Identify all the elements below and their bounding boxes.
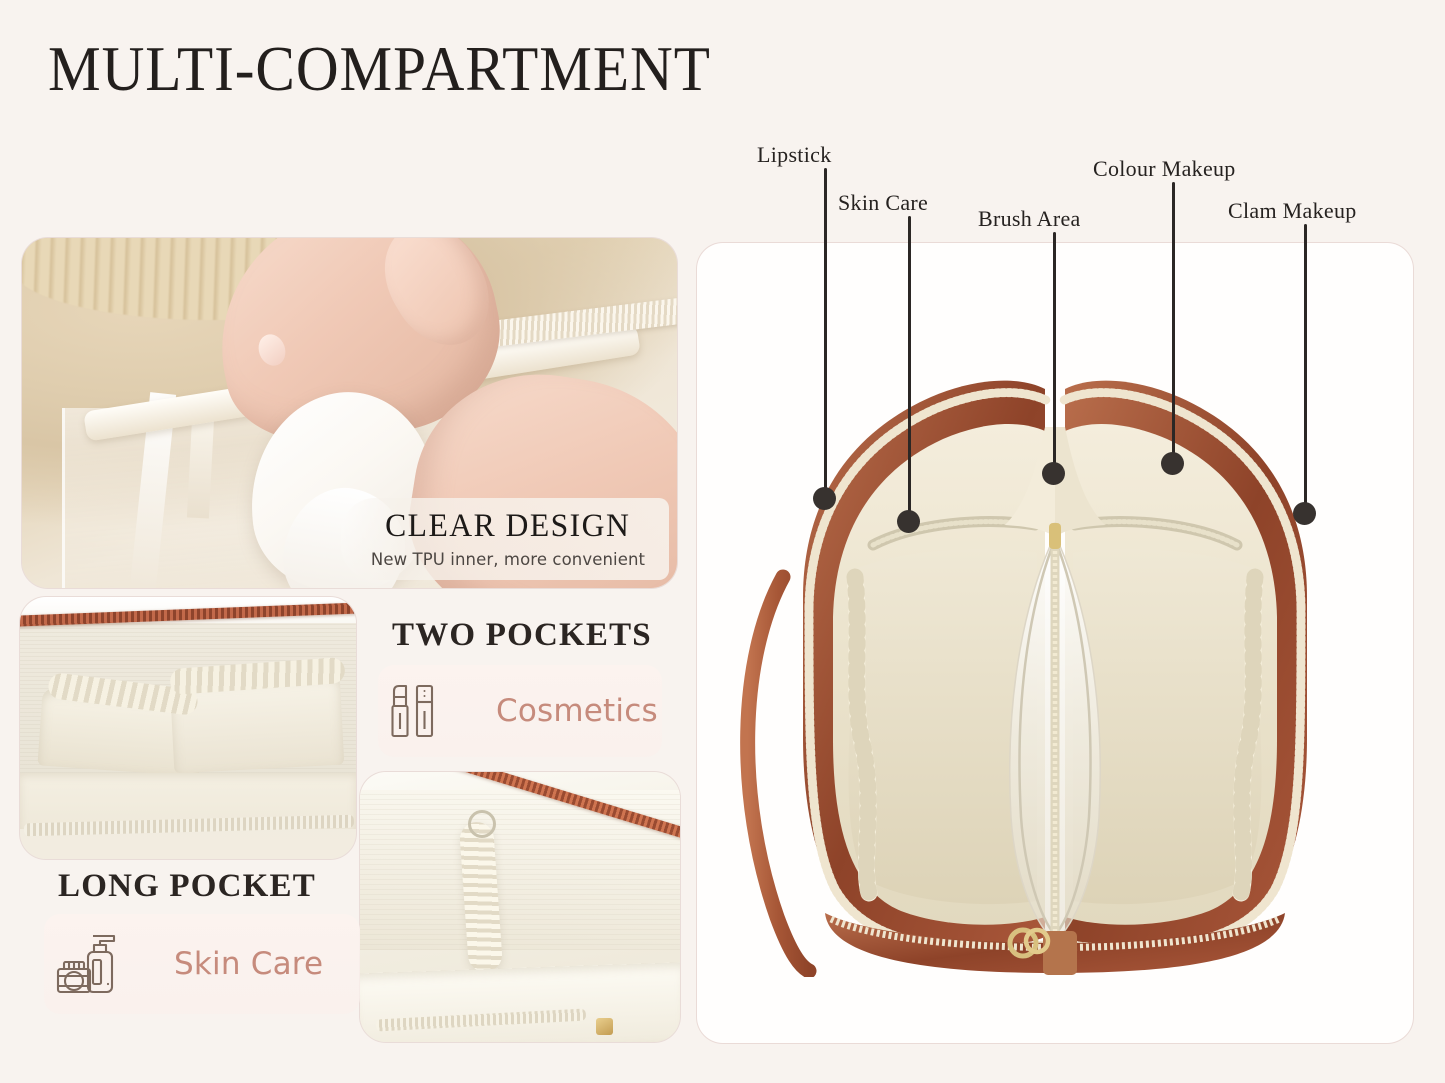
callout-label-brush-area: Brush Area [978, 206, 1081, 232]
badge-subtitle: New TPU inner, more convenient [371, 550, 645, 569]
callout-dot [1161, 452, 1184, 475]
two-pockets-heading: TWO POCKETS [392, 617, 652, 654]
callout-leader-line [908, 216, 911, 513]
clear-design-photo: CLEAR DESIGN New TPU inner, more conveni… [22, 238, 677, 588]
long-pocket-panel [360, 962, 680, 1042]
badge-title: CLEAR DESIGN [385, 510, 630, 543]
callout-dot [1293, 502, 1316, 525]
callout-leader-line [1172, 182, 1175, 455]
infographic-stage: MULTI-COMPARTMENT CLEAR DESIGN New TPU i… [0, 0, 1445, 1083]
cosmetics-tag: Cosmetics [378, 665, 662, 757]
page-title: MULTI-COMPARTMENT [48, 36, 711, 102]
skincare-bottle-icon [52, 930, 122, 998]
right-inner-pocket [1073, 549, 1261, 904]
callout-dot [897, 510, 920, 533]
callout-dot [813, 487, 836, 510]
bag-strap [748, 577, 809, 971]
lipstick-icon [386, 680, 440, 742]
callout-leader-line [1304, 224, 1307, 505]
skincare-tag: Skin Care [44, 914, 360, 1014]
callout-label-skin-care: Skin Care [838, 190, 928, 216]
callout-leader-line [1053, 232, 1056, 465]
cosmetics-label: Cosmetics [496, 693, 658, 729]
callout-label-lipstick: Lipstick [757, 142, 832, 168]
long-pocket-photo [360, 772, 680, 1042]
center-zipper-pull [1049, 523, 1061, 549]
left-inner-pocket [849, 549, 1037, 904]
gold-hardware [596, 1018, 613, 1035]
callout-label-colour-makeup: Colour Makeup [1093, 156, 1236, 182]
skincare-label: Skin Care [174, 946, 323, 982]
long-pocket-heading: LONG POCKET [58, 868, 316, 905]
callout-leader-line [824, 168, 827, 490]
metal-ring [468, 810, 496, 838]
two-pockets-photo [20, 597, 356, 859]
callout-dot [1042, 462, 1065, 485]
callout-label-clam-makeup: Clam Makeup [1228, 198, 1357, 224]
clear-design-badge: CLEAR DESIGN New TPU inner, more conveni… [341, 498, 669, 580]
